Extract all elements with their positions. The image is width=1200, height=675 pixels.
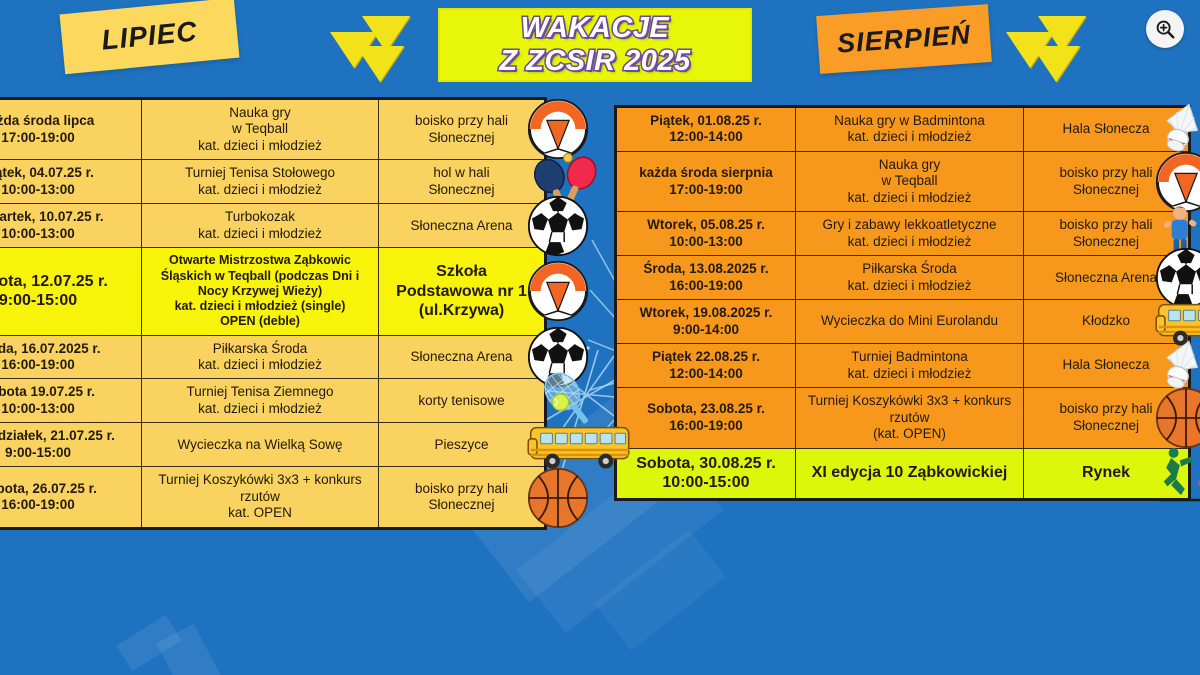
table-row: Poniedziałek, 21.07.25 r.9:00-15:00Wycie…	[0, 423, 546, 467]
table-row: Piątek 22.08.25 r.12:00-14:00Turniej Bad…	[616, 344, 1190, 388]
table-row: Środa, 16.07.2025 r.16:00-19:00Piłkarska…	[0, 335, 546, 379]
triangle-decoration-left	[330, 14, 422, 86]
table-row: Wtorek, 19.08.2025 r.9:00-14:00Wycieczka…	[616, 300, 1190, 344]
cell-location: hol w haliSłonecznej	[379, 160, 546, 204]
cell-location: Rynek	[1024, 448, 1190, 499]
bg-diagonal-3	[116, 615, 181, 671]
cell-date: każda środa sierpnia17:00-19:00	[616, 151, 796, 211]
poster-canvas: LIPIEC WAKACJE Z ZCSIR 2025 SIERPIEŃ każ…	[0, 0, 1200, 675]
cell-activity: Turniej Koszykówki 3x3 + konkursrzutów(k…	[796, 388, 1024, 448]
cell-activity: Gry i zabawy lekkoatletycznekat. dzieci …	[796, 212, 1024, 256]
title-line-1: WAKACJE	[521, 13, 670, 44]
cell-location: Hala Słonecza	[1024, 107, 1190, 152]
magnifier-plus-icon	[1154, 18, 1176, 40]
cell-activity: Turniej Tenisa Ziemnegokat. dzieci i mło…	[142, 379, 379, 423]
cell-date: Sobota 19.07.25 r.10:00-13:00	[0, 379, 142, 423]
cell-date: Sobota, 30.08.25 r.10:00-15:00	[616, 448, 796, 499]
title-line-2: Z ZCSIR 2025	[499, 46, 690, 77]
bg-diagonal-4	[156, 624, 221, 675]
cell-location: Słoneczna Arena	[1024, 256, 1190, 300]
cell-activity: Wycieczka na Wielką Sowę	[142, 423, 379, 467]
cell-date: Wtorek, 05.08.25 r.10:00-13:00	[616, 212, 796, 256]
cell-location: boisko przy haliSłonecznej	[1024, 151, 1190, 211]
cell-activity: Turniej Tenisa Stołowegokat. dzieci i mł…	[142, 160, 379, 204]
table-row: Wtorek, 05.08.25 r.10:00-13:00Gry i zaba…	[616, 212, 1190, 256]
triangle-decoration-right	[1006, 14, 1098, 86]
cell-location: boisko przy haliSłonecznej	[1024, 212, 1190, 256]
cell-location: boisko przy haliSłonecznej	[379, 99, 546, 160]
cell-location: SzkołaPodstawowa nr 1(ul.Krzywa)	[379, 248, 546, 335]
cell-location: Pieszyce	[379, 423, 546, 467]
cell-date: Środa, 13.08.2025 r.16:00-19:00	[616, 256, 796, 300]
table-row: Sobota, 26.07.25 r.16:00-19:00Turniej Ko…	[0, 467, 546, 528]
cell-activity: Turniej Koszykówki 3x3 + konkursrzutówka…	[142, 467, 379, 528]
cell-location: boisko przy haliSłonecznej	[1024, 388, 1190, 448]
cell-location: Słoneczna Arena	[379, 204, 546, 248]
month-label-august: SIERPIEŃ	[816, 4, 992, 74]
table-row: Środa, 13.08.2025 r.16:00-19:00Piłkarska…	[616, 256, 1190, 300]
cell-activity: Nauka gryw Teqballkat. dzieci i młodzież	[142, 99, 379, 160]
cell-activity: Piłkarska Środakat. dzieci i młodzież	[142, 335, 379, 379]
table-row: każda środa lipca17:00-19:00Nauka gryw T…	[0, 99, 546, 160]
cell-date: Piątek, 01.08.25 r.12:00-14:00	[616, 107, 796, 152]
cell-date: Środa, 16.07.2025 r.16:00-19:00	[0, 335, 142, 379]
cell-date: Wtorek, 19.08.2025 r.9:00-14:00	[616, 300, 796, 344]
table-row: Piątek, 01.08.25 r.12:00-14:00Nauka gry …	[616, 107, 1190, 152]
cell-activity: XI edycja 10 Ząbkowickiej	[796, 448, 1024, 499]
cell-activity: Turniej Badmintonakat. dzieci i młodzież	[796, 344, 1024, 388]
bg-diagonal-5	[594, 529, 726, 650]
cell-location: Kłodzko	[1024, 300, 1190, 344]
table-row: Sobota, 30.08.25 r.10:00-15:00XI edycja …	[616, 448, 1190, 499]
schedule-table-july: każda środa lipca17:00-19:00Nauka gryw T…	[0, 97, 547, 530]
cell-location: korty tenisowe	[379, 379, 546, 423]
cell-activity: Turbokozakkat. dzieci i młodzież	[142, 204, 379, 248]
poster-title: WAKACJE Z ZCSIR 2025	[438, 8, 752, 82]
table-row: Sobota, 23.08.25 r.16:00-19:00Turniej Ko…	[616, 388, 1190, 448]
cell-activity: Otwarte Mistrzostwa ZąbkowicŚląskich w T…	[142, 248, 379, 335]
cell-date: Sobota, 23.08.25 r.16:00-19:00	[616, 388, 796, 448]
table-row: Piątek, 04.07.25 r.10:00-13:00Turniej Te…	[0, 160, 546, 204]
cell-date: Sobota, 12.07.25 r.9:00-15:00	[0, 248, 142, 335]
cell-date: Piątek 22.08.25 r.12:00-14:00	[616, 344, 796, 388]
cell-date: Poniedziałek, 21.07.25 r.9:00-15:00	[0, 423, 142, 467]
cell-location: boisko przy haliSłonecznej	[379, 467, 546, 528]
cell-date: Sobota, 26.07.25 r.16:00-19:00	[0, 467, 142, 528]
cell-date: Czwartek, 10.07.25 r.10:00-13:00	[0, 204, 142, 248]
cell-date: Piątek, 04.07.25 r.10:00-13:00	[0, 160, 142, 204]
cell-activity: Nauka gry w Badmintonakat. dzieci i młod…	[796, 107, 1024, 152]
cell-location: Słoneczna Arena	[379, 335, 546, 379]
cell-date: każda środa lipca17:00-19:00	[0, 99, 142, 160]
table-row: Sobota 19.07.25 r.10:00-13:00Turniej Ten…	[0, 379, 546, 423]
table-row: każda środa sierpnia17:00-19:00Nauka gry…	[616, 151, 1190, 211]
cell-activity: Nauka gryw Teqballkat. dzieci i młodzież	[796, 151, 1024, 211]
cell-activity: Piłkarska Środakat. dzieci i młodzież	[796, 256, 1024, 300]
table-row: Czwartek, 10.07.25 r.10:00-13:00Turbokoz…	[0, 204, 546, 248]
cell-location: Hala Słonecza	[1024, 344, 1190, 388]
table-row: Sobota, 12.07.25 r.9:00-15:00Otwarte Mis…	[0, 248, 546, 335]
schedule-table-august: Piątek, 01.08.25 r.12:00-14:00Nauka gry …	[614, 105, 1191, 501]
cell-activity: Wycieczka do Mini Eurolandu	[796, 300, 1024, 344]
zoom-in-button[interactable]	[1146, 10, 1184, 48]
